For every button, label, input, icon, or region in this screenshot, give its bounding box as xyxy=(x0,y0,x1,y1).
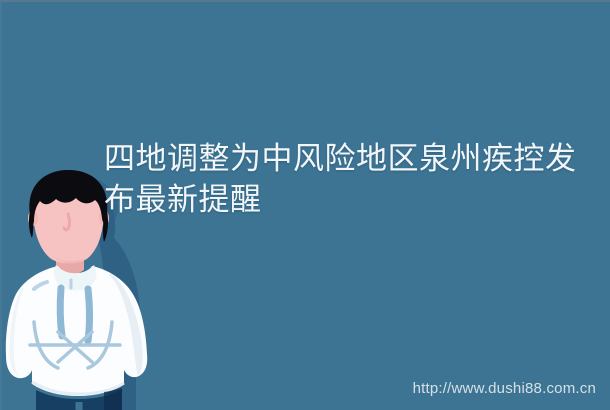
top-edge-rule xyxy=(0,0,610,2)
watermark-url: http://www.dushi88.com.cn xyxy=(413,380,596,397)
promo-image-canvas: 四地调整为中风险地区泉州疾控发布最新提醒 http://www.dushi88.… xyxy=(0,0,610,410)
page-title: 四地调整为中风险地区泉州疾控发布最新提醒 xyxy=(104,138,596,220)
